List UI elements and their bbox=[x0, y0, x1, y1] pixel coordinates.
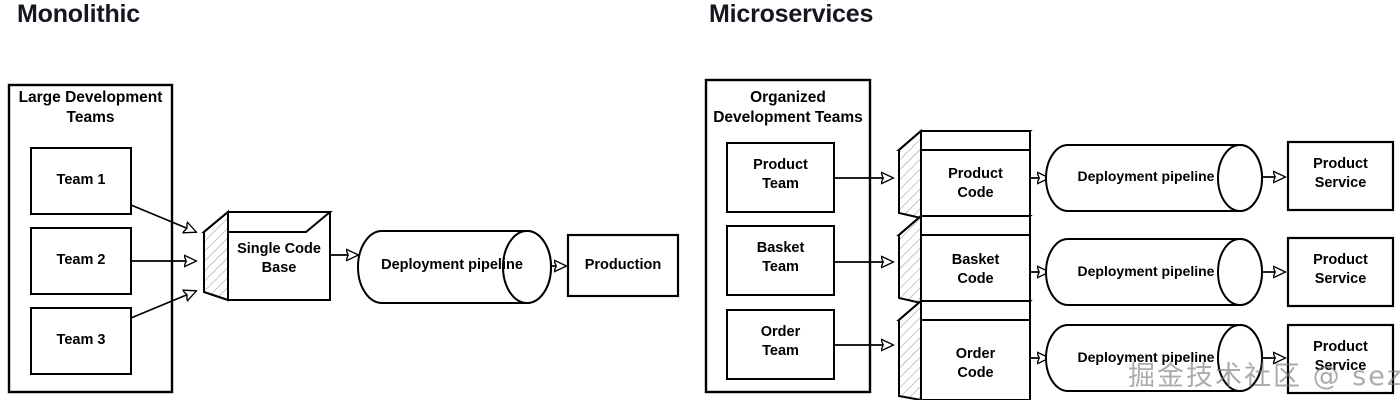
basket-code-cube bbox=[899, 216, 1030, 303]
diagram-shapes bbox=[0, 0, 1400, 400]
single-code-base-cube bbox=[204, 212, 330, 300]
order-code-cube bbox=[899, 301, 1030, 400]
production-box bbox=[568, 235, 678, 296]
microservices-pipeline-to-service-arrows bbox=[1262, 177, 1285, 358]
watermark: 掘金技术社区 @ sezoong bbox=[1128, 354, 1400, 393]
microservices-team-boxes bbox=[727, 143, 834, 379]
monolithic-team-boxes bbox=[31, 148, 131, 374]
monolithic-pipeline-cylinder bbox=[358, 231, 551, 303]
product-code-cube bbox=[899, 131, 1030, 218]
diagram-canvas: Monolithic Microservices bbox=[0, 0, 1400, 400]
